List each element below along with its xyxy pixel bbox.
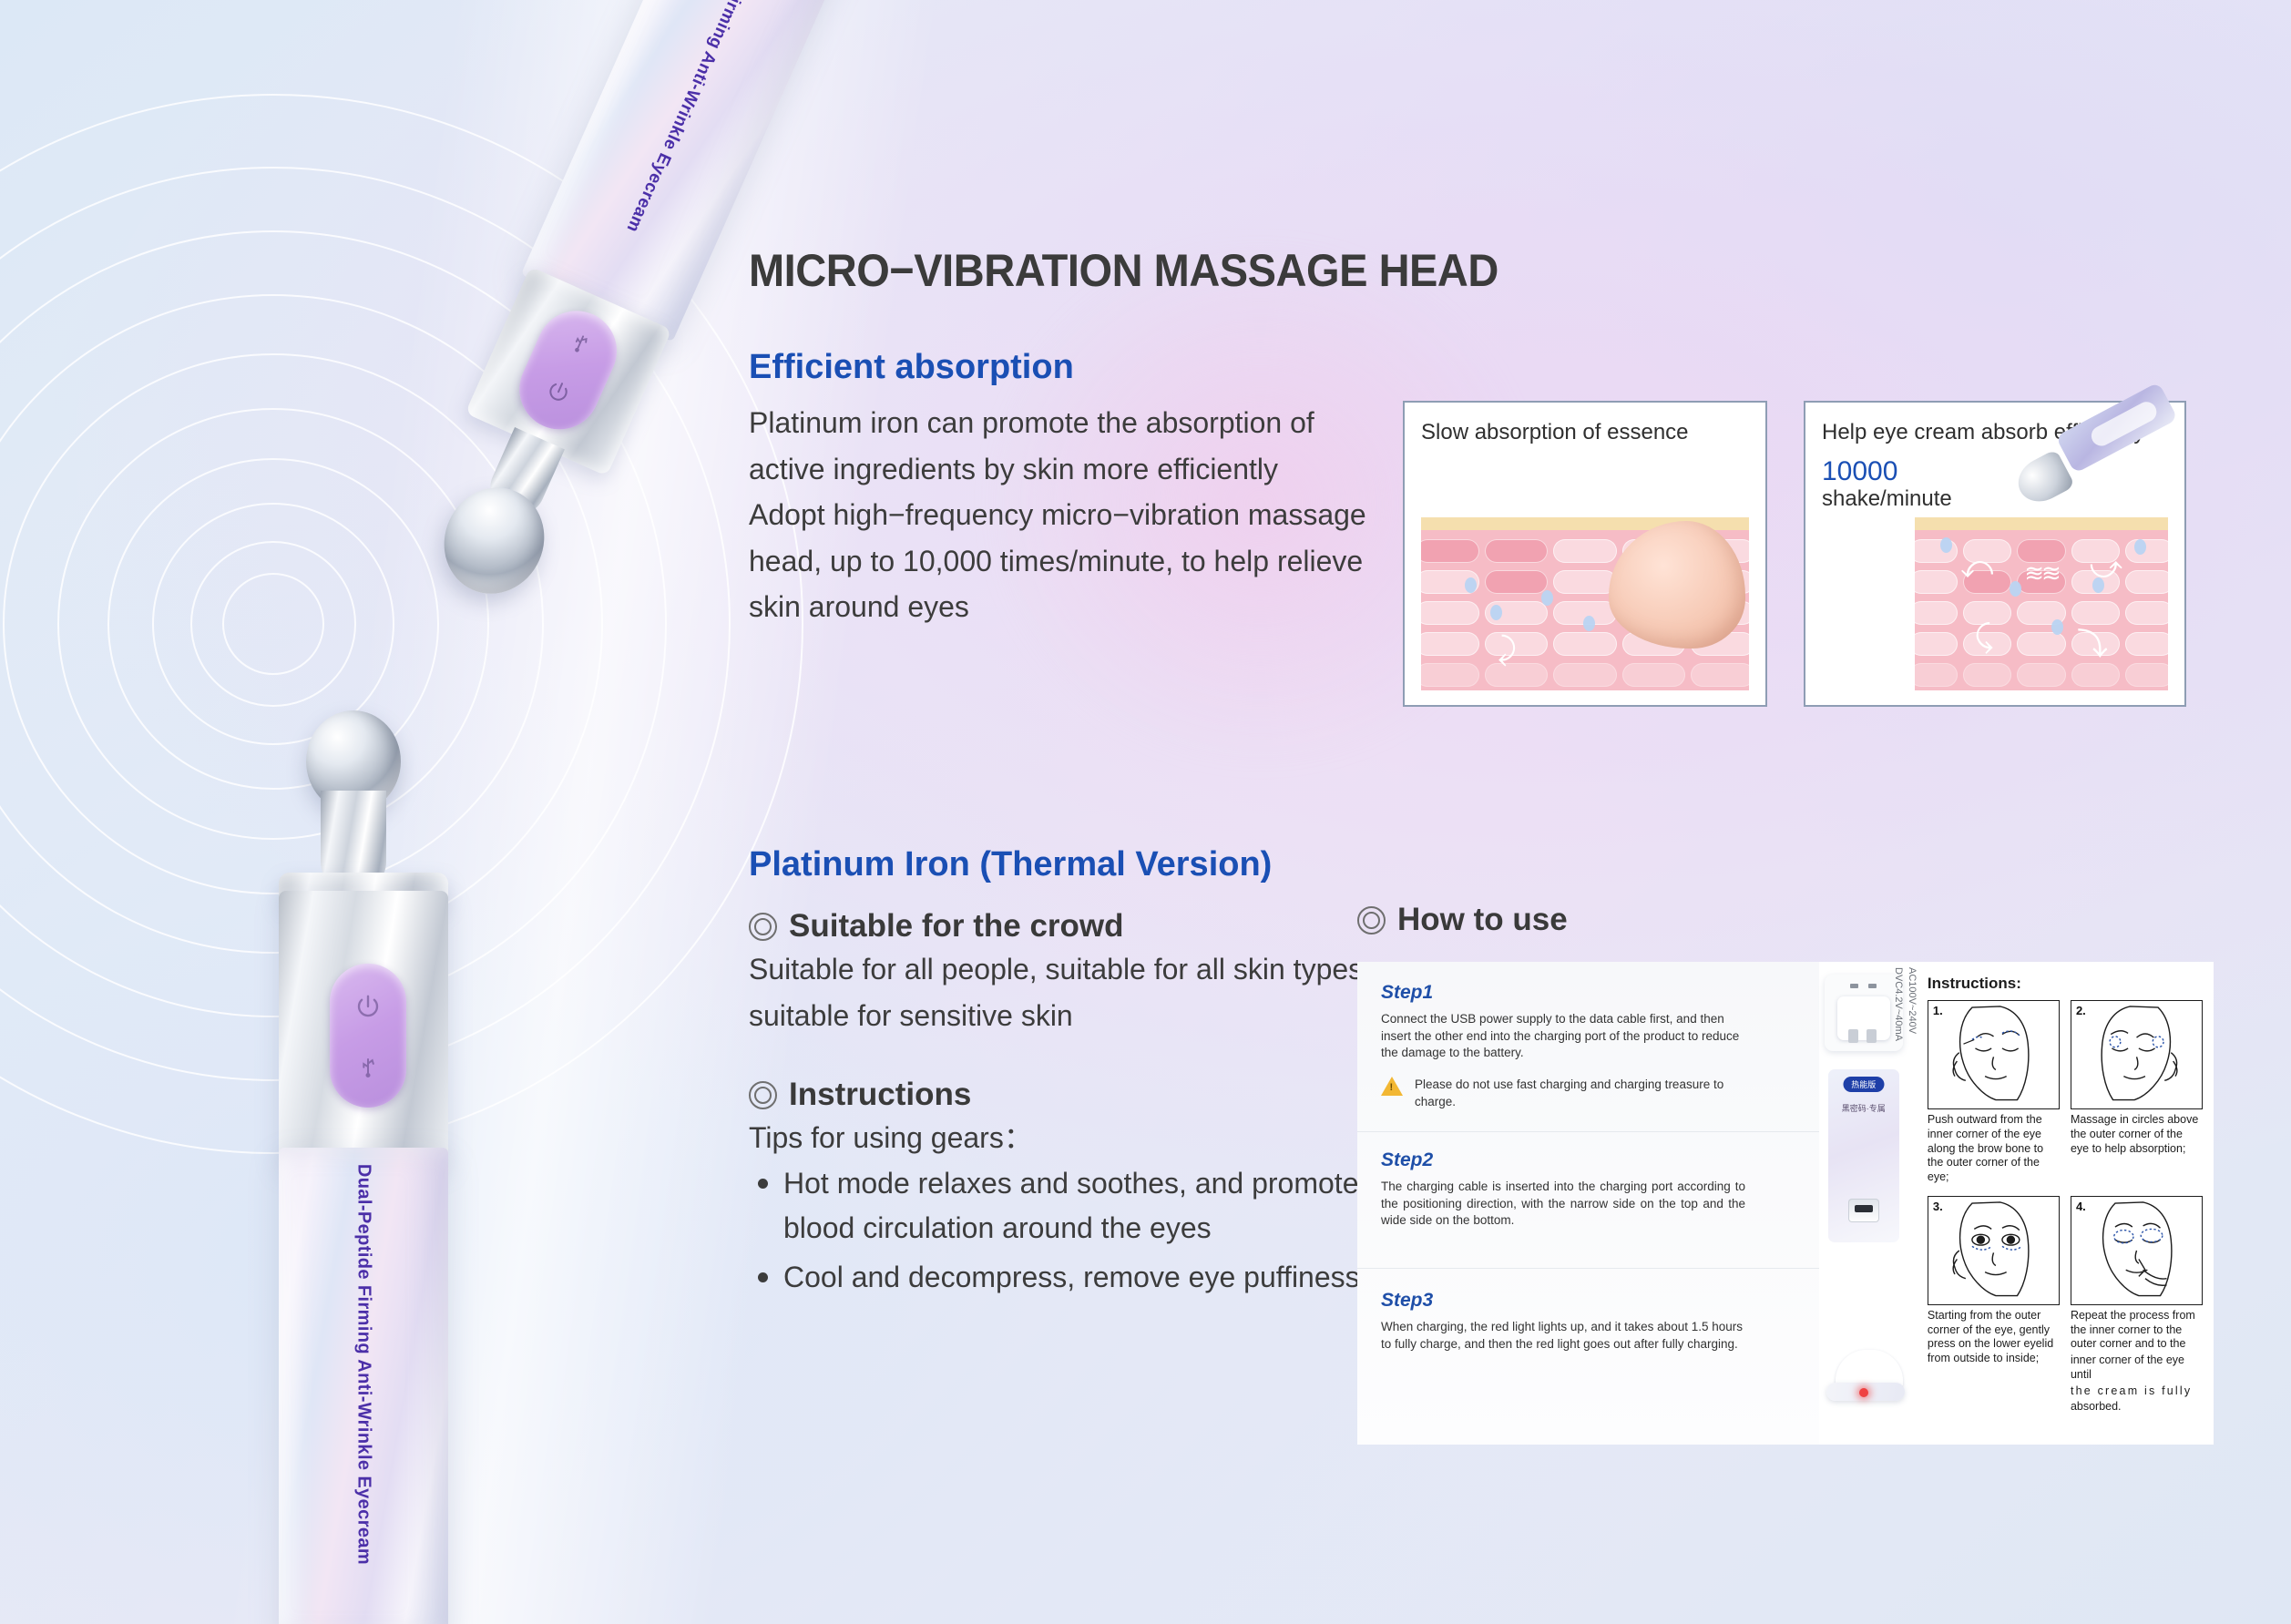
- step-3: Step3 When charging, the red light light…: [1381, 1290, 1745, 1353]
- usage-figure-3: 3.: [1928, 1196, 2060, 1422]
- power-icon: [354, 993, 382, 1020]
- vibration-wave-icon: ≋≋: [2024, 559, 2059, 587]
- usage-figure-1: 1.: [1928, 1000, 2060, 1192]
- instructions-heading-label: Instructions: [789, 1077, 971, 1113]
- device-charging-port-view: 热能版 黑密码·专属: [1828, 1069, 1899, 1242]
- card-slow-absorption: Slow absorption of essence ⤸: [1403, 401, 1767, 707]
- absorb-arrow-icon: ⤺: [1960, 550, 1993, 586]
- step-1-text: Connect the USB power supply to the data…: [1381, 1011, 1745, 1062]
- step-3-text: When charging, the red light lights up, …: [1381, 1319, 1745, 1353]
- figure-caption-end: absorbed.: [2071, 1400, 2203, 1415]
- control-pad-lower: [330, 964, 406, 1108]
- page-title: MICRO−VIBRATION MASSAGE HEAD: [749, 244, 1498, 297]
- absorption-comparison: Slow absorption of essence ⤸ Help eye cr…: [1403, 401, 2214, 710]
- figure-caption: Push outward from the inner corner of th…: [1928, 1113, 2060, 1185]
- how-to-use-heading: How to use: [1357, 902, 2232, 938]
- charging-led-icon: [1859, 1388, 1868, 1397]
- face-diagram-icon: [1928, 1197, 2059, 1304]
- charging-port: [1848, 1199, 1879, 1222]
- card-slow-absorption-heading: Slow absorption of essence: [1421, 419, 1749, 445]
- usage-figure-4: 4.: [2071, 1196, 2203, 1422]
- how-to-use-section: How to use Step1 Connect the USB power s…: [1357, 902, 2232, 1457]
- face-diagram-icon: [2071, 1001, 2202, 1108]
- suitable-crowd-heading: Suitable for the crowd: [749, 908, 1386, 945]
- face-diagram-icon: [1928, 1001, 2059, 1108]
- skin-cross-section-slow: ⤸: [1421, 517, 1749, 690]
- double-circle-icon: [1357, 906, 1386, 935]
- thermal-version-badge: 热能版: [1843, 1077, 1884, 1092]
- step-1-warning: Please do not use fast charging and char…: [1381, 1077, 1745, 1110]
- usb-icon: [355, 1053, 381, 1078]
- figure-image: 2.: [2071, 1000, 2203, 1109]
- figure-number: 1.: [1933, 1004, 1943, 1017]
- figure-caption-spaced: the cream is fully: [2071, 1384, 2203, 1399]
- absorb-arrow-icon: ⤸: [1498, 632, 1516, 668]
- usage-instructions: Instructions: 1.: [1917, 962, 2214, 1445]
- figure-number: 3.: [1933, 1200, 1943, 1213]
- step-2: Step2 The charging cable is inserted int…: [1381, 1149, 1745, 1230]
- double-circle-icon: [749, 913, 777, 941]
- efficient-absorption-body: Platinum iron can promote the absorption…: [749, 400, 1377, 630]
- step-3-title: Step3: [1381, 1290, 1745, 1312]
- warning-triangle-icon: [1381, 1077, 1403, 1096]
- step-1-warning-text: Please do not use fast charging and char…: [1415, 1077, 1745, 1110]
- step-1-title: Step1: [1381, 982, 1745, 1004]
- suitable-crowd-heading-label: Suitable for the crowd: [789, 908, 1124, 945]
- eyecream-tube-lower: Dual-Peptide Firming Anti-Wrinkle Eyecre…: [279, 1148, 448, 1624]
- figure-caption: Massage in circles above the outer corne…: [2071, 1113, 2203, 1156]
- double-circle-icon: [749, 1081, 777, 1109]
- efficient-absorption-heading: Efficient absorption: [749, 348, 1377, 387]
- usb-icon: [565, 326, 596, 357]
- step-2-text: The charging cable is inserted into the …: [1381, 1179, 1745, 1230]
- charging-illustrations: AC100V~240V DVC4.2V~40mA 热能版 黑密码·专属: [1819, 962, 1917, 1445]
- absorb-arrow-icon: ⤵: [2077, 619, 2108, 664]
- figure-image: 1.: [1928, 1000, 2060, 1109]
- figure-caption: Repeat the process from the inner corner…: [2071, 1309, 2203, 1352]
- suitable-crowd-block: Suitable for the crowd Suitable for all …: [749, 908, 1386, 1038]
- suitable-crowd-body: Suitable for all people, suitable for al…: [749, 946, 1386, 1038]
- step-1: Step1 Connect the USB power supply to th…: [1381, 982, 1745, 1110]
- card-efficient-absorption: Help eye cream absorb efficiently 10000 …: [1804, 401, 2186, 707]
- voltage-label: AC100V~240V DVC4.2V~40mA: [1891, 967, 1918, 1041]
- figure-caption-cont: inner corner of the eye until: [2071, 1353, 2203, 1383]
- efficient-absorption-section: Efficient absorption Platinum iron can p…: [749, 348, 1377, 630]
- figure-number: 4.: [2076, 1200, 2086, 1213]
- absorb-arrow-icon: ⤹: [1975, 619, 1993, 655]
- tips-list: Hot mode relaxes and soothes, and promot…: [749, 1161, 1386, 1301]
- platinum-iron-section: Platinum Iron (Thermal Version) Suitable…: [749, 845, 1386, 1303]
- tips-intro: Tips for using gears：: [749, 1115, 1386, 1161]
- product-image-lower: Dual-Peptide Firming Anti-Wrinkle Eyecre…: [273, 720, 574, 1624]
- instructions-block: Instructions Tips for using gears： Hot m…: [749, 1077, 1386, 1300]
- list-item: Hot mode relaxes and soothes, and promot…: [752, 1161, 1386, 1251]
- instructions-heading: Instructions: [749, 1077, 1386, 1113]
- product-infographic: Dual-Peptide Firming Anti-Wrinkle Eyecre…: [0, 0, 2291, 1624]
- figure-number: 2.: [2076, 1004, 2086, 1017]
- figure-image: 4.: [2071, 1196, 2203, 1305]
- cable-connected-view: [1821, 1346, 1912, 1437]
- list-item: Cool and decompress, remove eye puffines…: [752, 1255, 1386, 1301]
- tube-brand-text-lower: Dual-Peptide Firming Anti-Wrinkle Eyecre…: [353, 1163, 375, 1564]
- usage-figure-2: 2.: [2071, 1000, 2203, 1192]
- figure-caption: Starting from the outer corner of the ey…: [1928, 1309, 2060, 1366]
- how-to-use-panel: Step1 Connect the USB power supply to th…: [1357, 962, 2214, 1445]
- usage-instructions-title: Instructions:: [1928, 975, 2203, 993]
- how-to-use-heading-label: How to use: [1397, 902, 1568, 938]
- power-icon: [543, 376, 574, 407]
- device-chinese-text: 黑密码·专属: [1842, 1102, 1886, 1114]
- figure-image: 3.: [1928, 1196, 2060, 1305]
- usage-figures-grid: 1.: [1928, 1000, 2203, 1422]
- skin-cross-section-efficient: ≋≋ ⤺ ⤻ ⤹ ⤵: [1915, 517, 2168, 690]
- charging-steps: Step1 Connect the USB power supply to th…: [1357, 962, 1819, 1445]
- face-diagram-icon: [2071, 1197, 2202, 1304]
- platinum-iron-heading: Platinum Iron (Thermal Version): [749, 845, 1386, 884]
- step-2-title: Step2: [1381, 1149, 1745, 1171]
